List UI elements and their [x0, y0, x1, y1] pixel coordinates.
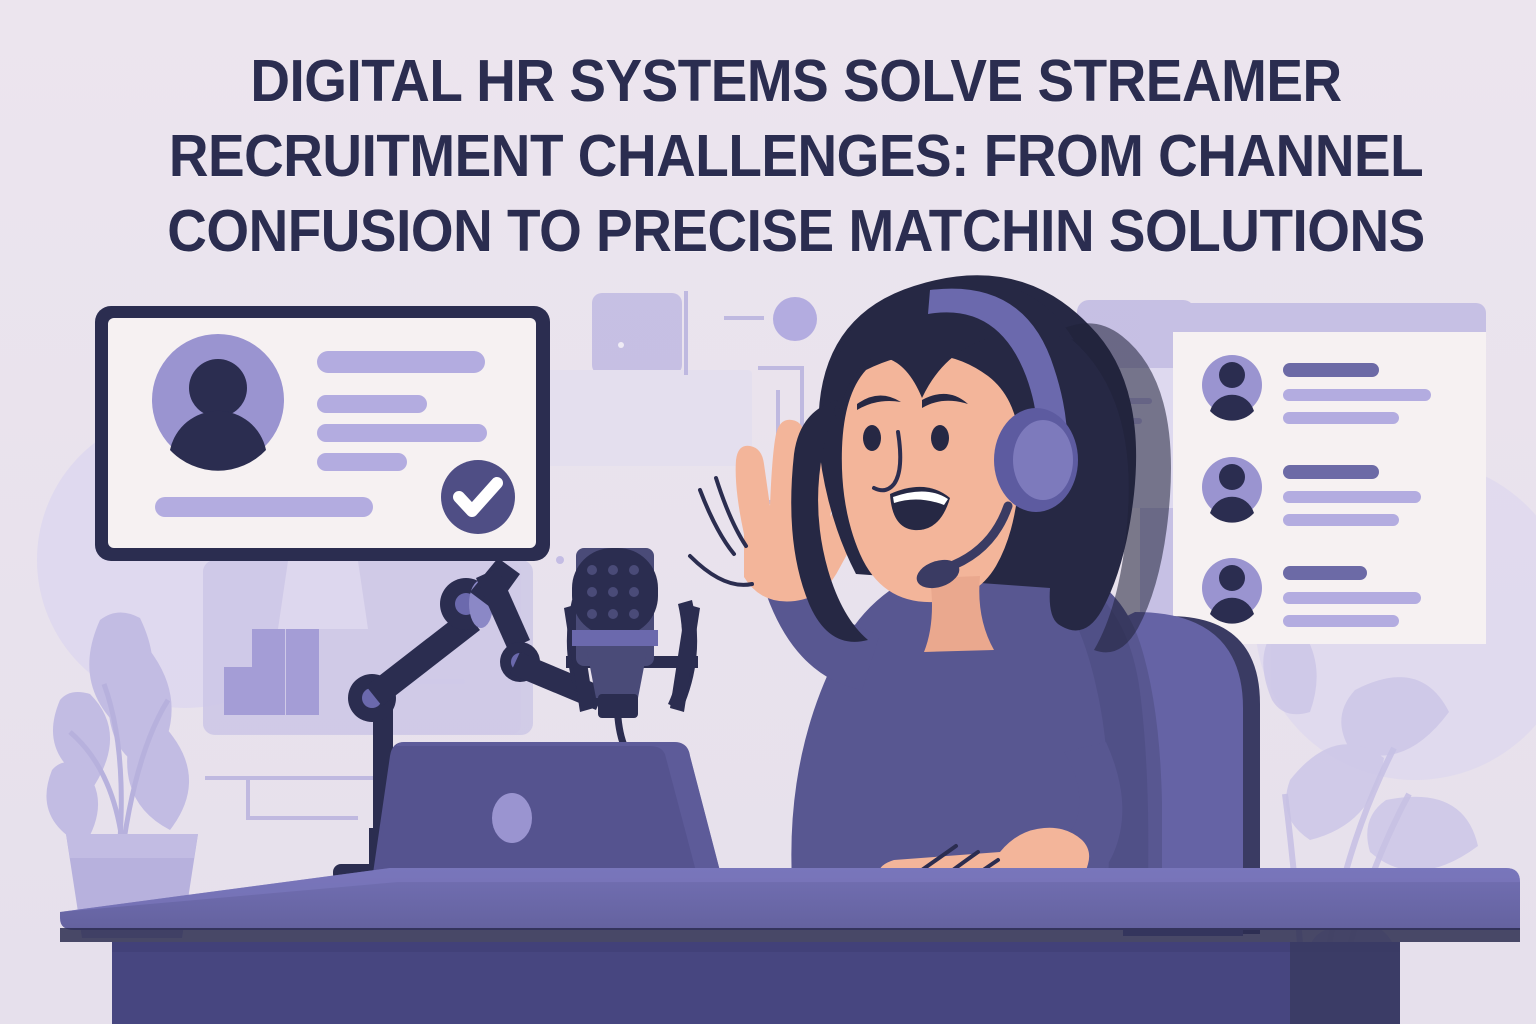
candidate-line: [1283, 412, 1399, 424]
verified-check-badge[interactable]: [441, 460, 515, 534]
profile-line: [317, 395, 427, 413]
background-node-dot-small: [556, 556, 564, 564]
candidate-line: [1283, 465, 1379, 479]
eye-right: [931, 425, 949, 451]
candidate-line: [1283, 389, 1431, 401]
desk-right-shadow: [1290, 942, 1400, 1024]
candidate-line: [1283, 592, 1421, 604]
candidate-line: [1283, 514, 1399, 526]
avatar-head: [1219, 565, 1245, 591]
profile-line: [317, 424, 487, 442]
laptop-logo: [492, 793, 532, 843]
microphone-grill-dots: [587, 565, 639, 619]
profile-line: [317, 453, 407, 471]
profile-line: [317, 351, 485, 373]
avatar-head: [1219, 464, 1245, 490]
candidate-line: [1283, 491, 1421, 503]
monitor-stand: [278, 561, 368, 629]
avatar-head: [1219, 362, 1245, 388]
eye-left: [863, 425, 881, 451]
avatar-head: [189, 359, 247, 417]
candidate-list-card[interactable]: [1173, 332, 1486, 644]
headset-earcup-inner: [1013, 420, 1073, 500]
background-node-dot: [773, 297, 817, 341]
candidate-line: [1283, 363, 1379, 377]
candidate-line: [1283, 615, 1399, 627]
illustration-canvas: DIGITAL HR SYSTEMS SOLVE STREAMER RECRUI…: [0, 0, 1536, 1024]
candidate-line: [1283, 566, 1367, 580]
profile-line: [155, 497, 373, 517]
scene-illustration: [0, 0, 1536, 1024]
